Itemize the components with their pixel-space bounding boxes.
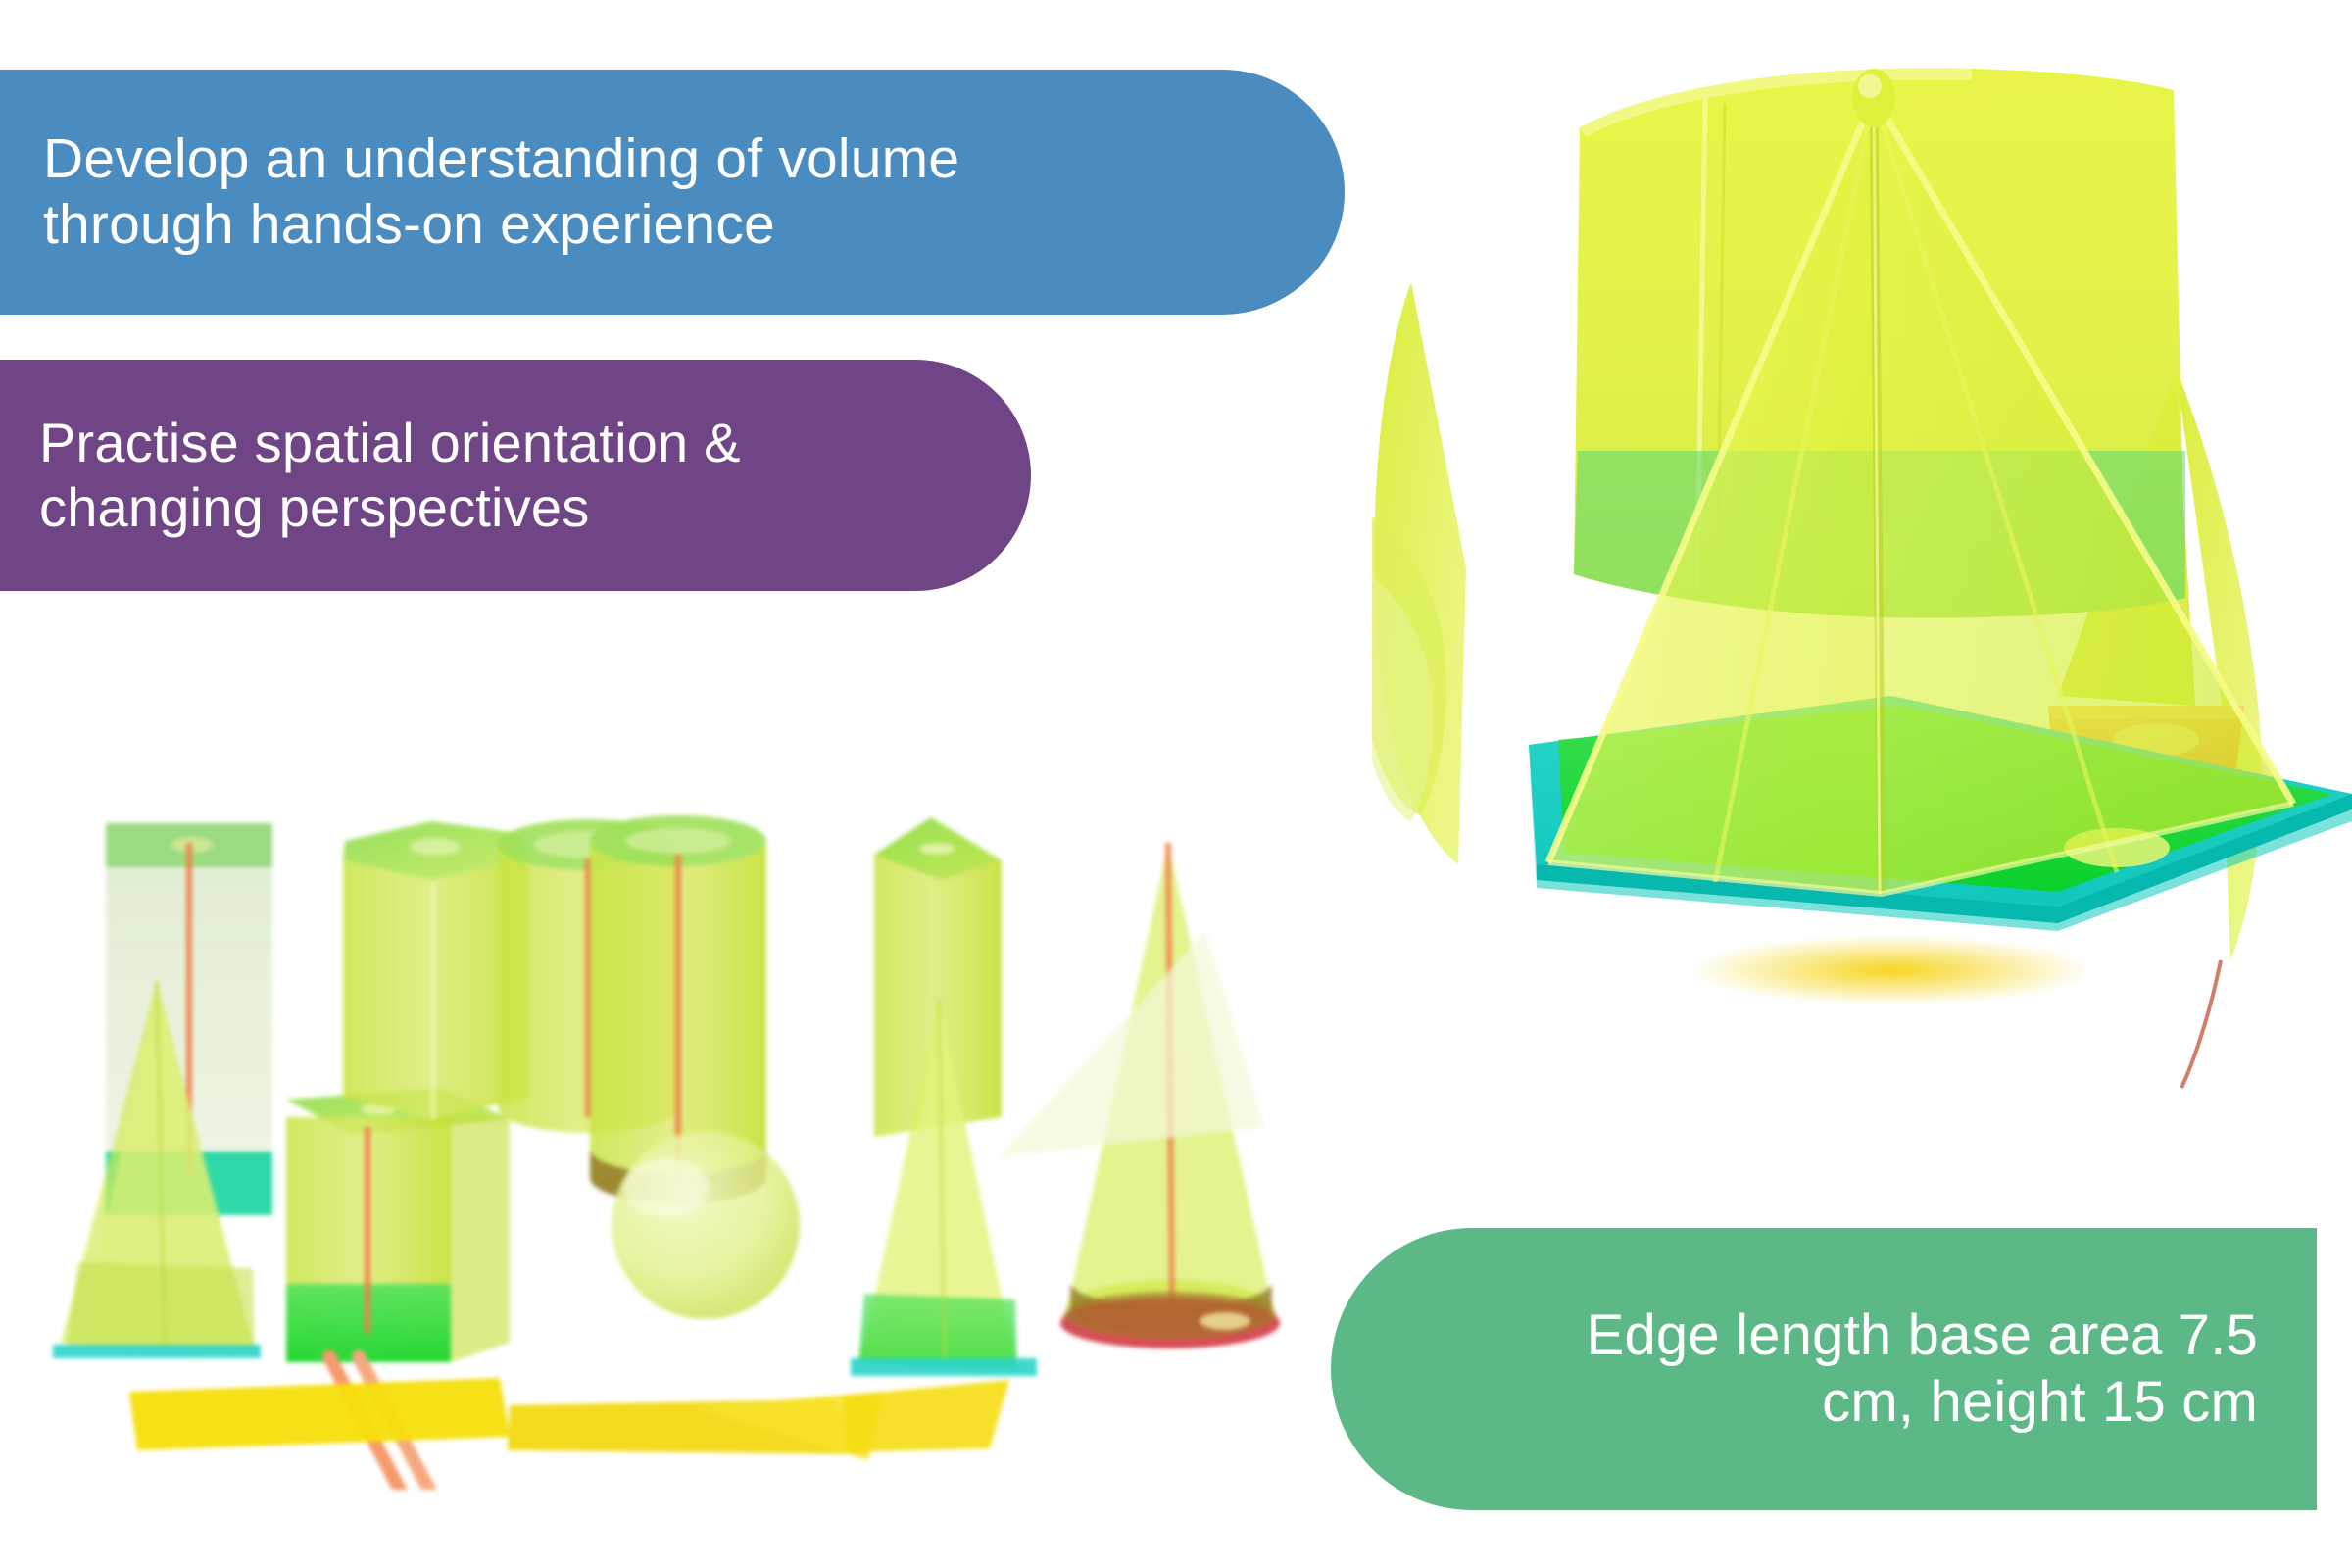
- banner-objective-volume-text: Develop an understanding of volume throu…: [43, 126, 959, 259]
- drop-shadow: [1690, 935, 2092, 1005]
- left-cone-fragment: [1372, 282, 1466, 864]
- photo-geometric-solids-collection: [20, 804, 1333, 1490]
- solid-cube: [286, 1088, 510, 1362]
- banner-spec-dimensions: Edge length base area 7.5 cm, height 15 …: [1331, 1228, 2317, 1510]
- banner-spec-dimensions-text: Edge length base area 7.5 cm, height 15 …: [1587, 1302, 2258, 1437]
- banner-objective-spatial-text: Practise spatial orientation & changing …: [39, 411, 741, 540]
- solid-sphere: [612, 1131, 800, 1319]
- pyramid-photo-svg: [1372, 20, 2352, 1117]
- flat-yellow-pieces: [129, 1378, 1009, 1460]
- collection-photo-svg: [20, 804, 1333, 1490]
- solid-cone: [1000, 843, 1280, 1348]
- solid-prism-with-pyramid: [851, 817, 1037, 1376]
- photo-pyramid-in-prism: [1372, 20, 2352, 1117]
- banner-objective-volume: Develop an understanding of volume throu…: [0, 70, 1345, 315]
- banner-objective-spatial: Practise spatial orientation & changing …: [0, 360, 1031, 591]
